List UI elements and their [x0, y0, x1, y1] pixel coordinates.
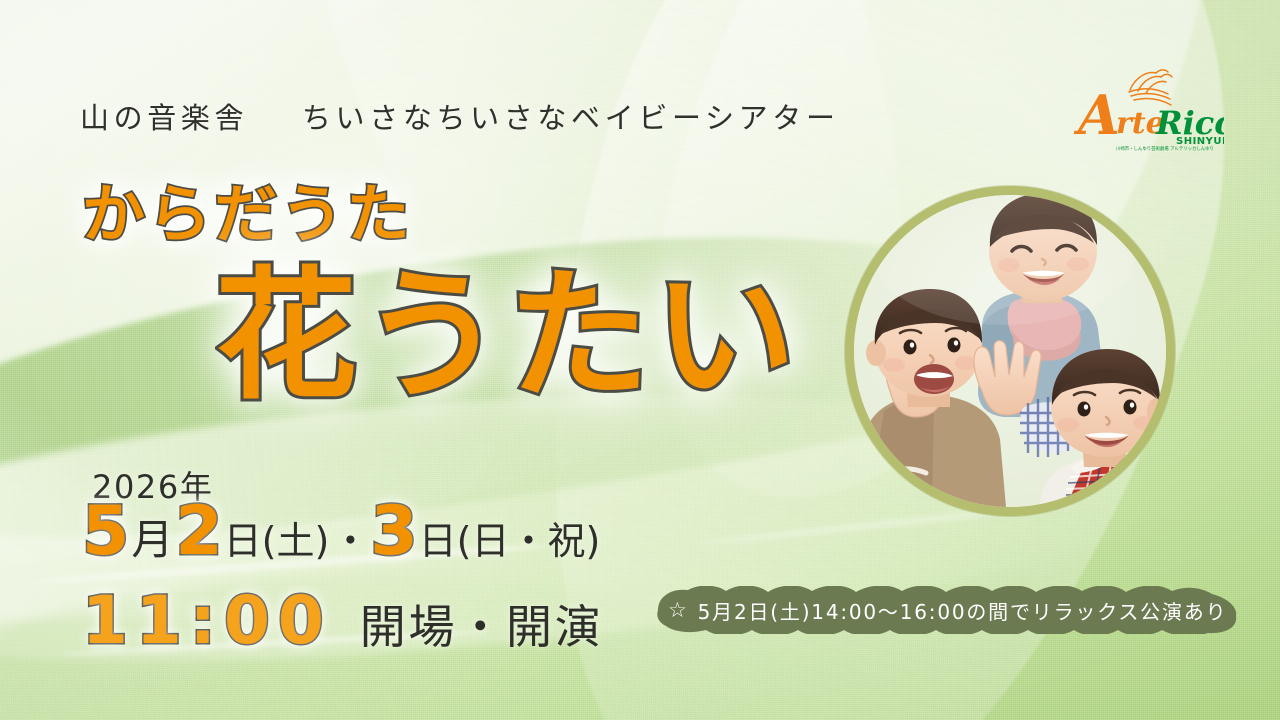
month-kanji: 月 — [131, 519, 173, 561]
logo-subtitle: SHINYURI — [1176, 136, 1224, 147]
header-subtitle: 山の音楽舎 ちいさなちいさなベイビーシアター — [80, 95, 840, 137]
time-value: 11:00 — [82, 588, 332, 654]
wheat-sheaf-icon — [1129, 70, 1172, 105]
three-smiling-babies-photo — [854, 195, 1166, 507]
day1-label: 日(土) — [224, 522, 330, 560]
title-small: からだうた — [82, 183, 413, 246]
logo-word-arte: A — [1073, 83, 1120, 147]
day1-number: 2 — [175, 498, 222, 566]
series-name: ちいさなちいさなベイビーシアター — [302, 101, 840, 135]
month-number: 5 — [82, 498, 129, 566]
day2-number: 3 — [370, 498, 417, 566]
banner-message: 5月2日(土)14:00〜16:00の間でリラックス公演あり — [698, 596, 1228, 625]
logo-tagline: 川崎市・しんゆり芸術劇場 アルテリッカしんゆり — [1116, 145, 1214, 152]
poster-canvas: 山の音楽舎 ちいさなちいさなベイビーシアター A — [0, 0, 1280, 720]
relax-performance-banner: ☆ 5月2日(土)14:00〜16:00の間でリラックス公演あり — [640, 586, 1248, 634]
organization-name: 山の音楽舎 — [80, 101, 248, 135]
title-large: 花うたい — [215, 266, 800, 408]
time-label: 開場・開演 — [360, 604, 604, 650]
star-icon: ☆ — [668, 598, 689, 622]
banner-text: ☆ 5月2日(土)14:00〜16:00の間でリラックス公演あり — [640, 586, 1248, 634]
day2-label: 日(日・祝) — [419, 522, 601, 560]
date-separator: ・ — [331, 522, 369, 560]
time-line: 11:00 開場・開演 — [82, 588, 604, 654]
photo-circle — [845, 186, 1175, 516]
arte-ricca-logo[interactable]: A rte Ricca SHINYURI 川崎市・しんゆり芸術劇場 アルテリッカ… — [1072, 60, 1224, 152]
date-line: 5 月 2 日(土) ・ 3 日(日・祝) — [82, 498, 601, 566]
